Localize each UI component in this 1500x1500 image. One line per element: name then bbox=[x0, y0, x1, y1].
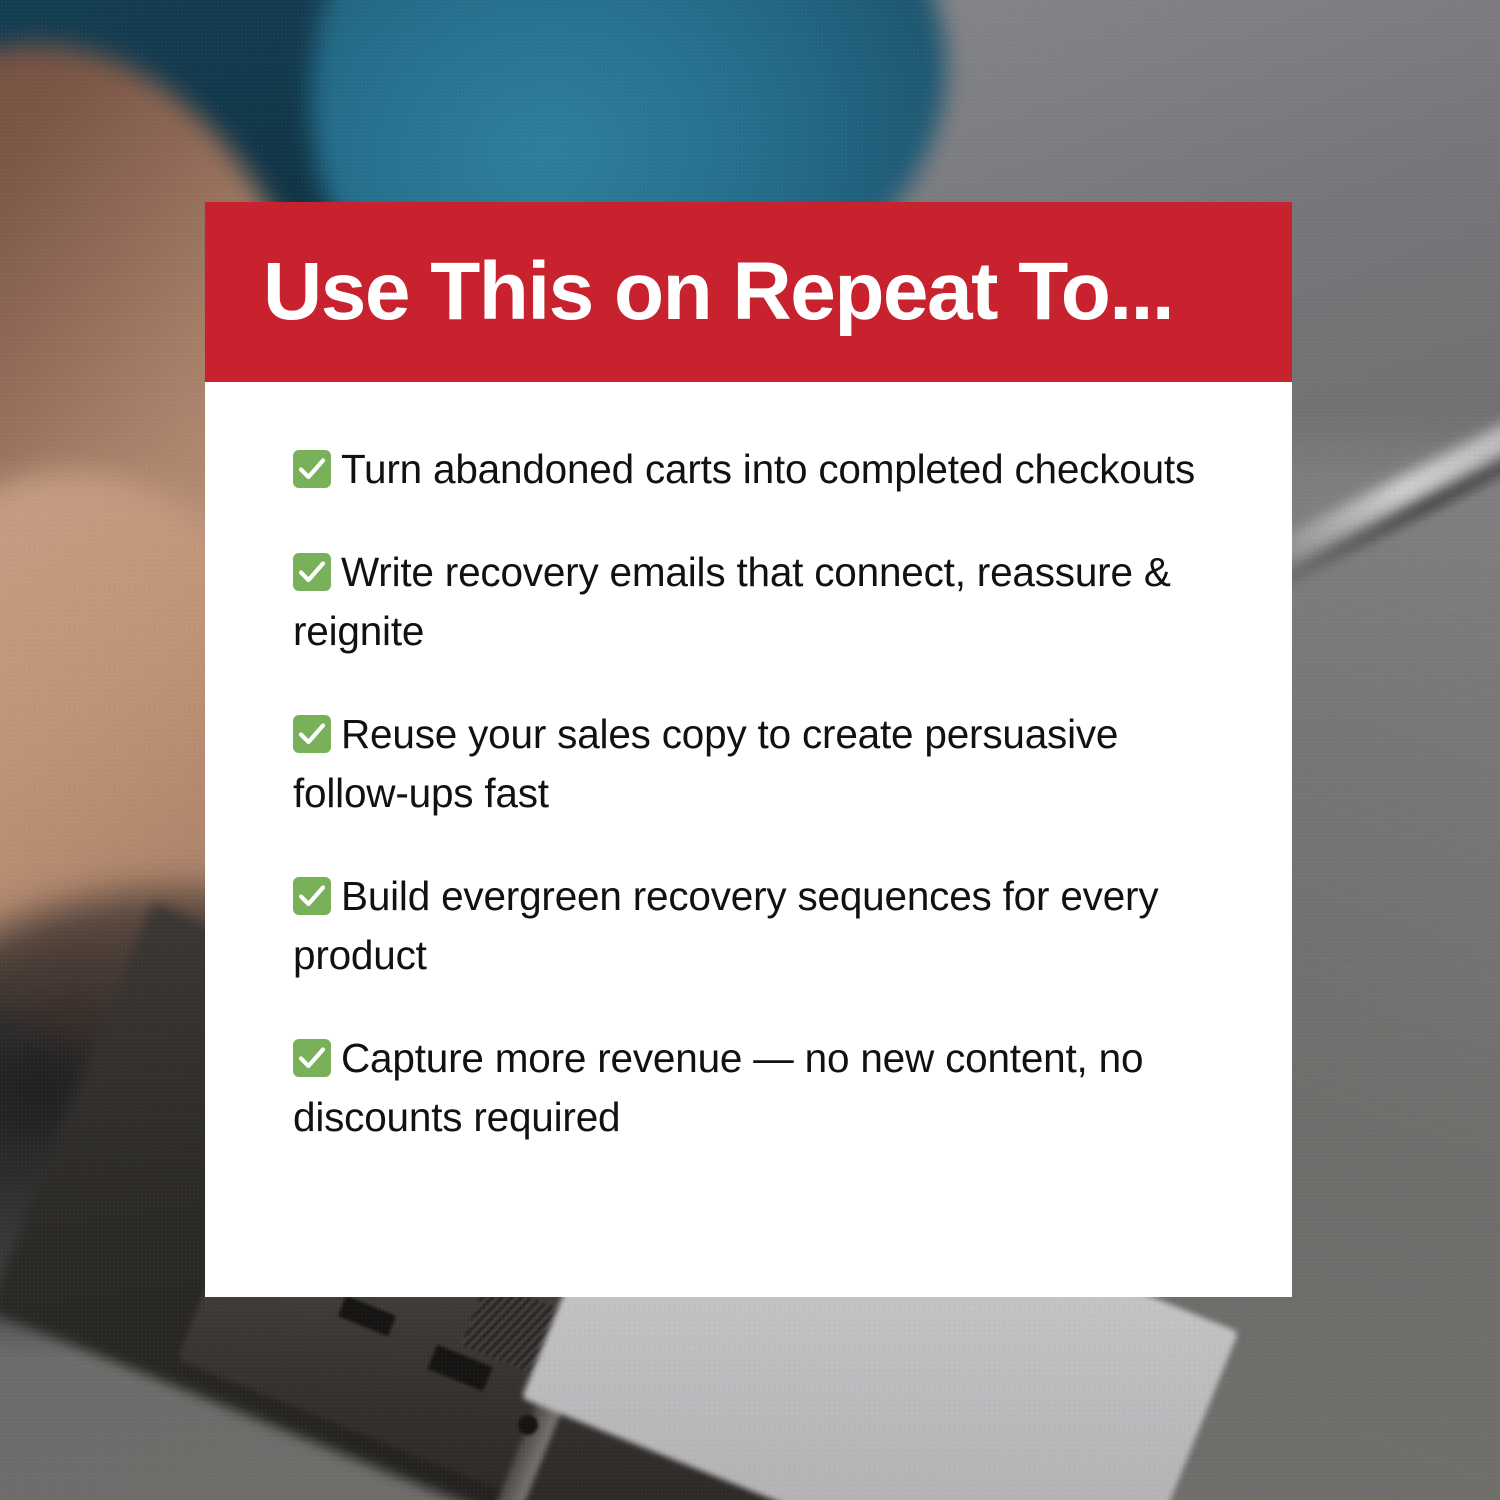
white-check-mark-icon bbox=[293, 1039, 331, 1077]
white-check-mark-icon bbox=[293, 553, 331, 591]
list-item: Turn abandoned carts into completed chec… bbox=[293, 440, 1232, 500]
list-item-label: Turn abandoned carts into completed chec… bbox=[341, 446, 1195, 492]
list-item: Capture more revenue — no new content, n… bbox=[293, 1029, 1232, 1148]
list-item: Build evergreen recovery sequences for e… bbox=[293, 867, 1232, 986]
content-card: Use This on Repeat To... Turn abandoned … bbox=[205, 202, 1292, 1297]
slide-canvas: Use This on Repeat To... Turn abandoned … bbox=[0, 0, 1500, 1500]
card-header: Use This on Repeat To... bbox=[205, 202, 1292, 382]
white-check-mark-icon bbox=[293, 877, 331, 915]
list-item-label: Capture more revenue — no new content, n… bbox=[293, 1035, 1143, 1141]
benefits-list: Turn abandoned carts into completed chec… bbox=[205, 382, 1292, 1148]
white-check-mark-icon bbox=[293, 450, 331, 488]
laptop-port-audio-jack bbox=[518, 1415, 538, 1435]
list-item-label: Build evergreen recovery sequences for e… bbox=[293, 873, 1158, 979]
list-item: Write recovery emails that connect, reas… bbox=[293, 543, 1232, 662]
page-title: Use This on Repeat To... bbox=[263, 251, 1173, 333]
white-check-mark-icon bbox=[293, 715, 331, 753]
list-item: Reuse your sales copy to create persuasi… bbox=[293, 705, 1232, 824]
list-item-label: Reuse your sales copy to create persuasi… bbox=[293, 711, 1118, 817]
list-item-label: Write recovery emails that connect, reas… bbox=[293, 549, 1171, 655]
